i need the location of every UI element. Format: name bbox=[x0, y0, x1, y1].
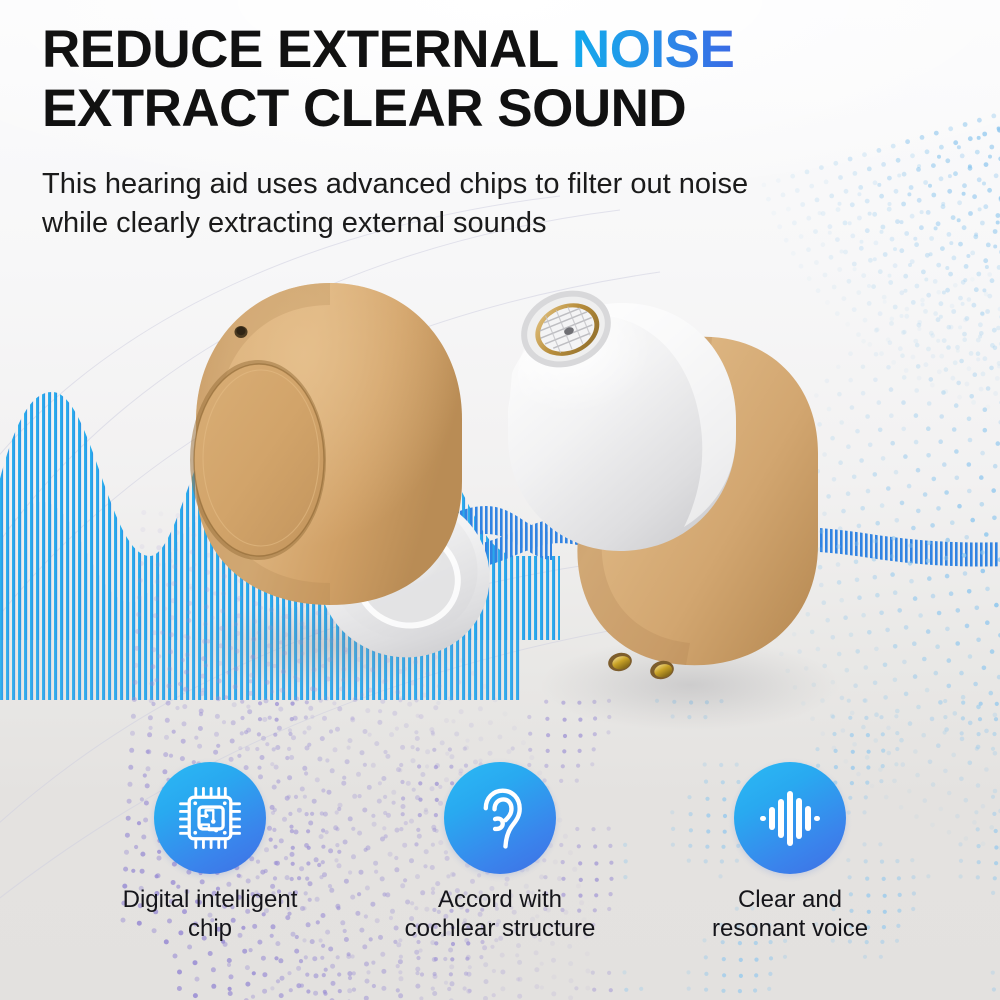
feature-icon-circle-ear bbox=[444, 762, 556, 874]
ear-icon bbox=[465, 783, 535, 853]
feature-label-voice-line1: Clear and bbox=[738, 886, 842, 913]
feature-list: Digital intelligent chip Accord with coc… bbox=[0, 762, 1000, 962]
feature-label-voice: Clear and resonant voice bbox=[712, 885, 868, 944]
microchip-icon bbox=[175, 783, 245, 853]
left-earbud-touch-button bbox=[190, 360, 326, 560]
right-earbud bbox=[508, 277, 818, 681]
left-earbud-mic-hole bbox=[235, 326, 248, 338]
sound-wave-icon bbox=[754, 782, 826, 854]
feature-item-ear[interactable]: Accord with cochlear structure bbox=[355, 762, 645, 944]
subtitle-line2: while clearly extracting external sounds bbox=[42, 204, 962, 243]
headline: REDUCE EXTERNAL NOISE EXTRACT CLEAR SOUN… bbox=[42, 22, 942, 136]
feature-icon-circle-voice bbox=[734, 762, 846, 874]
feature-label-chip-line1: Digital intelligent bbox=[123, 886, 298, 913]
feature-label-chip: Digital intelligent chip bbox=[123, 885, 298, 944]
headline-highlight-noise: NOISE bbox=[572, 20, 734, 79]
product-photo-earbuds bbox=[0, 245, 1000, 745]
right-earbud-ear-tip bbox=[508, 277, 736, 551]
subtitle-line1: This hearing aid uses advanced chips to … bbox=[42, 165, 962, 204]
subtitle: This hearing aid uses advanced chips to … bbox=[42, 165, 962, 242]
feature-label-chip-line2: chip bbox=[188, 915, 232, 942]
headline-line2: EXTRACT CLEAR SOUND bbox=[42, 81, 942, 136]
feature-label-ear-line1: Accord with bbox=[438, 886, 562, 913]
feature-label-ear: Accord with cochlear structure bbox=[405, 885, 596, 944]
feature-label-voice-line2: resonant voice bbox=[712, 915, 868, 942]
feature-icon-circle-chip bbox=[154, 762, 266, 874]
product-marketing-banner: REDUCE EXTERNAL NOISE EXTRACT CLEAR SOUN… bbox=[0, 0, 1000, 1000]
feature-item-chip[interactable]: Digital intelligent chip bbox=[65, 762, 355, 944]
feature-item-voice[interactable]: Clear and resonant voice bbox=[645, 762, 935, 944]
feature-label-ear-line2: cochlear structure bbox=[405, 915, 596, 942]
headline-line1-plain: REDUCE EXTERNAL bbox=[42, 20, 572, 79]
